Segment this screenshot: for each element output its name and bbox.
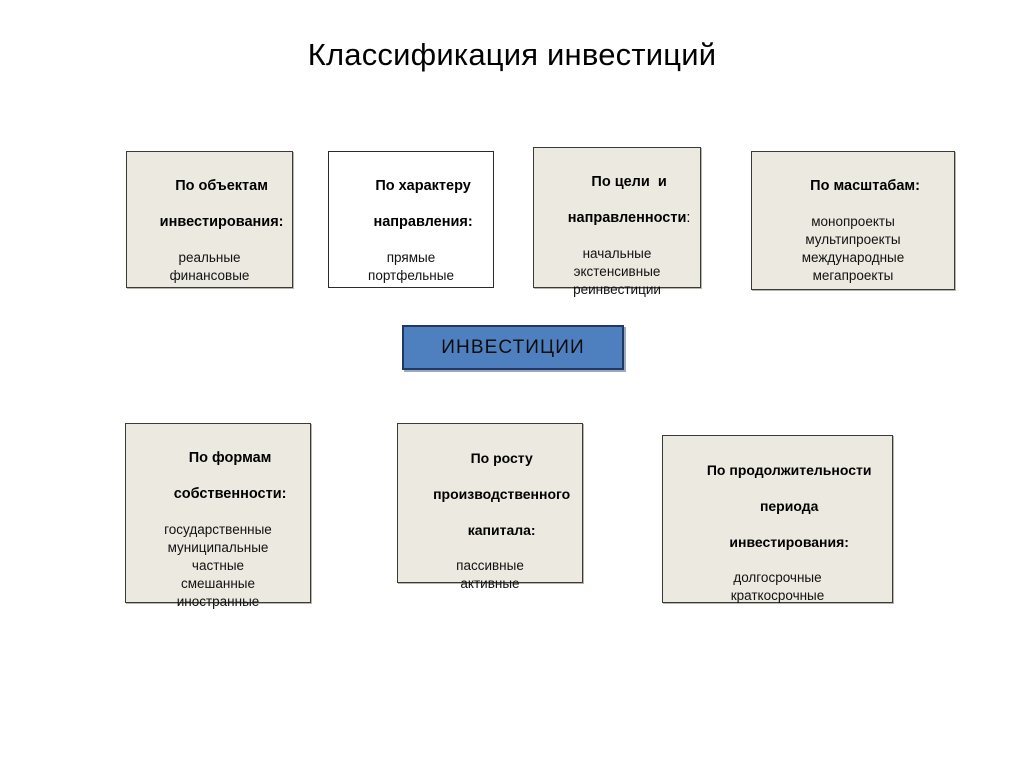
category-item-list: реальные финансовые [170,249,250,285]
category-heading: По масштабам: [786,159,920,213]
list-item: начальные [573,245,661,263]
category-heading: По продолжительности периода инвестирова… [684,443,872,569]
heading-line-1: По цели и [591,174,666,190]
category-box-investment-scale[interactable]: По масштабам: монопроекты мультипроекты … [751,151,955,290]
list-item: экстенсивные [573,263,661,281]
category-item-list: государственные муниципальные частные см… [164,521,272,611]
category-box-investment-character[interactable]: По характеру направления: прямые портфел… [328,151,494,288]
category-item-list: монопроекты мультипроекты международные … [802,213,905,285]
heading-line-3: капитала: [468,522,536,538]
heading-line-2: производственного [433,486,570,502]
list-item: пассивные [456,557,524,575]
list-item: смешанные [164,575,272,593]
list-item: активные [456,575,524,593]
category-heading: По росту производственного капитала: [410,431,570,557]
heading-line-1: По росту [471,450,533,466]
category-item-list: начальные экстенсивные реинвестиции [573,245,661,299]
category-heading: По характеру направления: [349,159,472,249]
heading-line-2: собственности: [174,486,287,502]
list-item: финансовые [170,267,250,285]
list-item: долгосрочные [731,569,825,587]
category-heading: По формам собственности: [150,431,287,521]
heading-line-1: По объектам [175,178,268,194]
heading-colon: : [686,210,690,226]
center-node-investments[interactable]: ИНВЕСТИЦИИ [402,325,624,370]
list-item: прямые [368,249,454,267]
category-box-investment-period-duration[interactable]: По продолжительности периода инвестирова… [662,435,893,603]
list-item: частные [164,557,272,575]
category-item-list: прямые портфельные [368,249,454,285]
heading-line-1: По продолжительности [707,462,872,478]
list-item: монопроекты [802,213,905,231]
list-item: реальные [170,249,250,267]
list-item: краткосрочные [731,587,825,605]
category-box-investment-objects[interactable]: По объектам инвестирования: реальные фин… [126,151,293,288]
heading-line-2: периода [760,498,818,514]
heading-line-2: инвестирования: [160,214,284,230]
category-item-list: пассивные активные [456,557,524,593]
category-heading: По цели и направленности: [544,155,691,245]
list-item: муниципальные [164,539,272,557]
category-box-investment-purpose[interactable]: По цели и направленности: начальные экст… [533,147,701,288]
heading-line-2: направления: [373,214,472,230]
list-item: мегапроекты [802,267,905,285]
slide-canvas: Классификация инвестиций По объектам инв… [0,0,1024,767]
heading-line-1: По характеру [375,178,471,194]
heading-line-2: направленности [568,210,687,226]
category-box-production-capital-growth[interactable]: По росту производственного капитала: пас… [397,423,583,583]
list-item: реинвестиции [573,281,661,299]
page-title: Классификация инвестиций [0,36,1024,74]
category-box-ownership-forms[interactable]: По формам собственности: государственные… [125,423,311,603]
category-item-list: долгосрочные краткосрочные [731,569,825,605]
list-item: государственные [164,521,272,539]
center-node-label: ИНВЕСТИЦИИ [441,337,584,359]
list-item: мультипроекты [802,231,905,249]
list-item: иностранные [164,593,272,611]
list-item: портфельные [368,267,454,285]
category-heading: По объектам инвестирования: [136,159,284,249]
heading-line-1: По формам [189,450,272,466]
list-item: международные [802,249,905,267]
heading-line-1: По масштабам: [810,178,920,194]
heading-line-3: инвестирования: [729,534,849,550]
